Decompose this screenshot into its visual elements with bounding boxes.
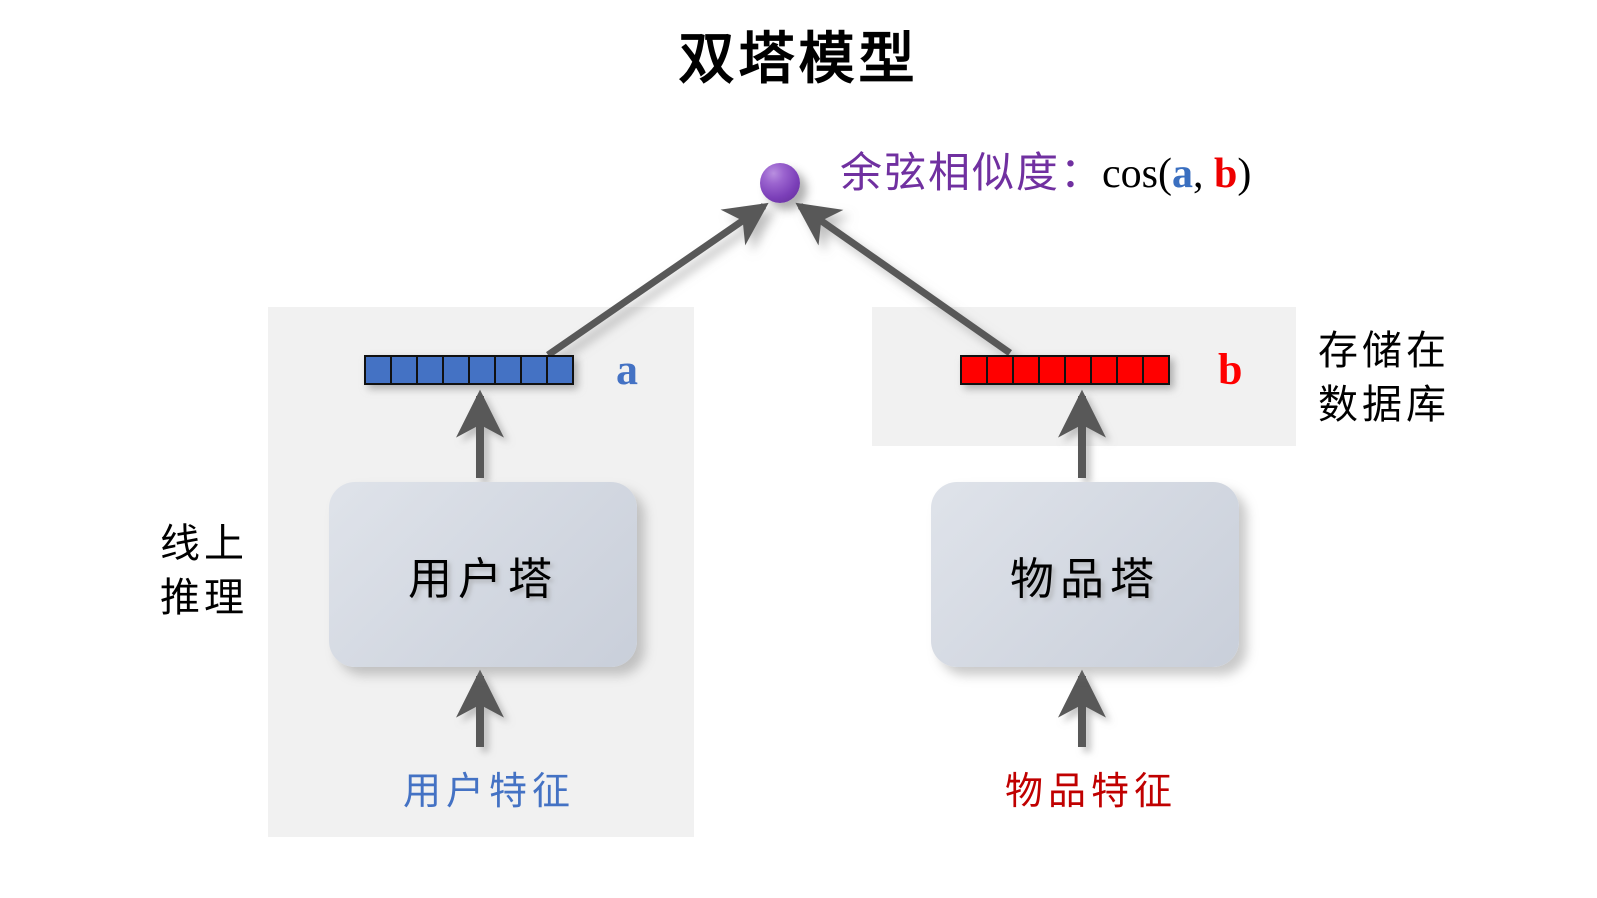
item-embedding-vector [960, 355, 1170, 385]
arrow-layer [0, 0, 1597, 898]
cos-arg-a: a [1172, 151, 1193, 197]
user-embedding-cell [520, 355, 548, 385]
item-embedding-cell [986, 355, 1014, 385]
online-inference-note-line2: 推理 [160, 571, 248, 625]
cos-function-close: ) [1237, 151, 1251, 197]
cos-arg-b: b [1214, 151, 1237, 197]
similarity-node-sphere [760, 163, 800, 203]
item-embedding-cell [1038, 355, 1066, 385]
cosine-similarity-chinese-label: 余弦相似度 [840, 148, 1060, 197]
cos-arg-comma: , [1193, 151, 1214, 197]
item-embedding-cell [1142, 355, 1170, 385]
cosine-similarity-caption: 余弦相似度：cos(a, b) [840, 152, 1251, 195]
online-inference-note-line1: 线上 [160, 517, 248, 571]
user-embedding-cell [390, 355, 418, 385]
user-tower-label: 用户塔 [408, 543, 558, 607]
stored-in-database-note: 存储在 数据库 [1318, 324, 1450, 432]
item-tower-box: 物品塔 [931, 482, 1239, 667]
user-embedding-cell [546, 355, 574, 385]
user-embedding-cell [468, 355, 496, 385]
stored-in-database-note-line2: 数据库 [1318, 378, 1450, 432]
user-tower-box: 用户塔 [329, 482, 637, 667]
user-embedding-cell [442, 355, 470, 385]
page-title: 双塔模型 [0, 14, 1597, 95]
user-embedding-vector [364, 355, 574, 385]
item-embedding-cell [1116, 355, 1144, 385]
user-feature-label: 用户特征 [403, 760, 575, 815]
item-embedding-cell [1090, 355, 1118, 385]
item-embedding-cell [1064, 355, 1092, 385]
online-inference-note: 线上 推理 [160, 517, 248, 625]
item-feature-label: 物品特征 [1005, 760, 1177, 815]
item-tower-label: 物品塔 [1010, 543, 1160, 607]
cos-function-open: cos( [1102, 151, 1172, 197]
item-embedding-cell [960, 355, 988, 385]
user-embedding-cell [364, 355, 392, 385]
item-embedding-label: b [1218, 348, 1242, 392]
caption-colon: ： [1060, 151, 1102, 197]
user-embedding-cell [494, 355, 522, 385]
diagram-canvas: 双塔模型 [0, 0, 1597, 898]
user-embedding-label: a [616, 348, 638, 392]
stored-in-database-note-line1: 存储在 [1318, 324, 1450, 378]
item-embedding-cell [1012, 355, 1040, 385]
user-embedding-cell [416, 355, 444, 385]
